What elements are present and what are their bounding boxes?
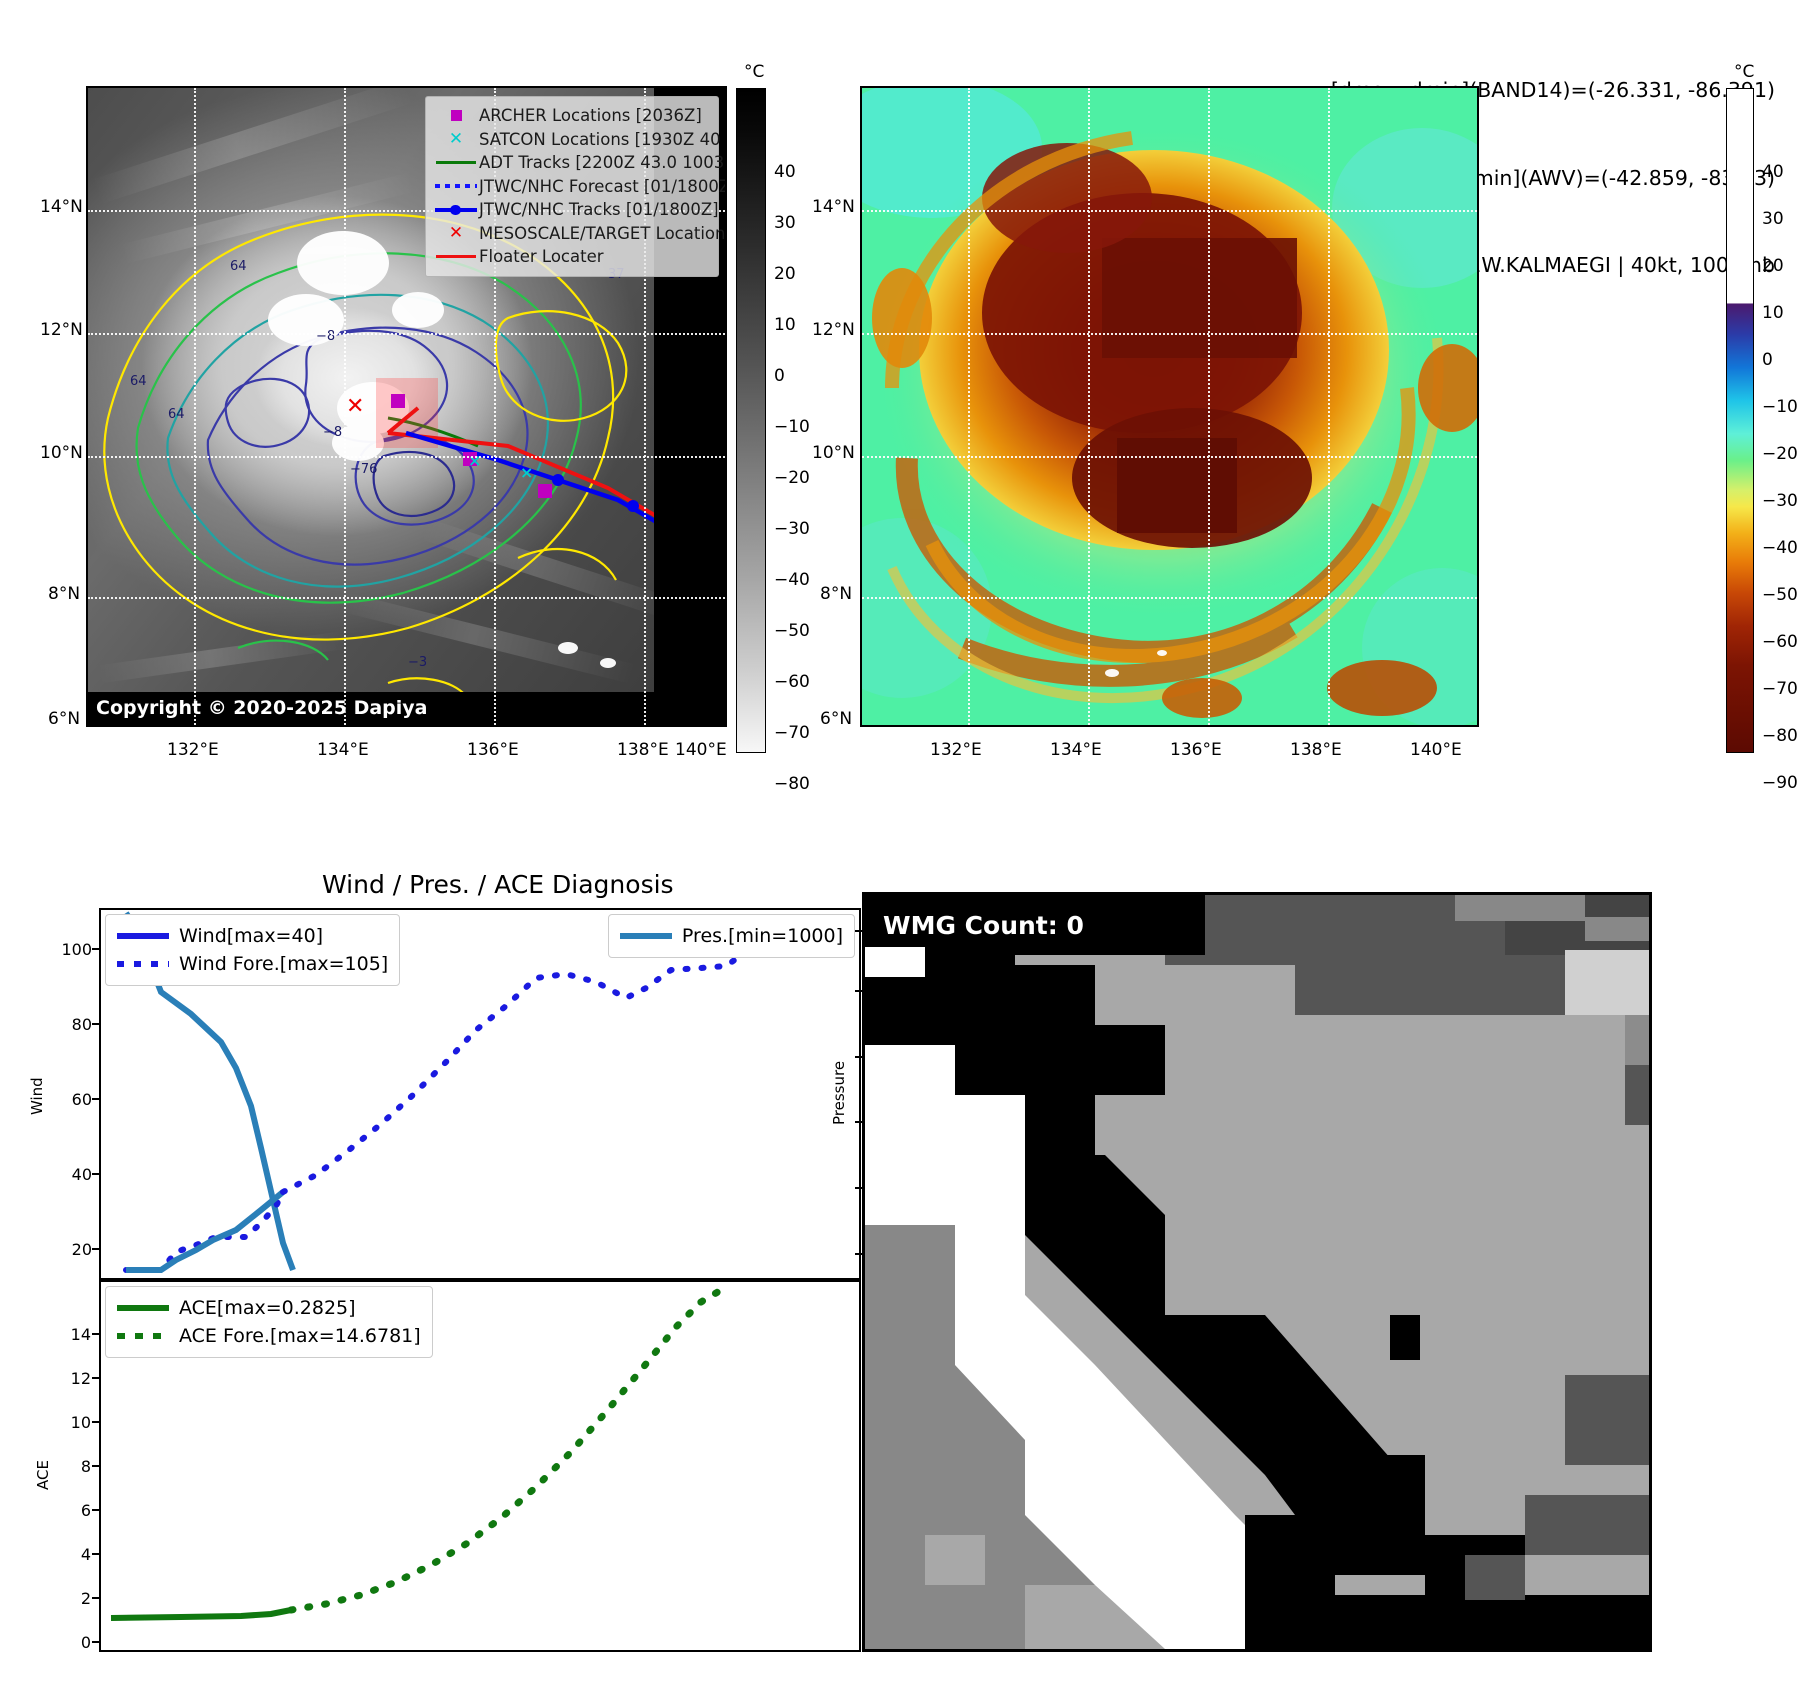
ace-ytick: 4 — [62, 1545, 91, 1564]
map2-xlabel-138E: 138°E — [1290, 740, 1342, 760]
legend-item-satcon[interactable]: ✕ SATCON Locations [1930Z 40 1001] — [433, 128, 710, 152]
diagnosis-subtitle: Wind / Pres. / ACE Diagnosis — [322, 870, 674, 899]
ace-ytick: 12 — [55, 1369, 91, 1388]
gridline-lon-132 — [194, 88, 196, 725]
blue-solid-line-icon — [117, 933, 179, 939]
wind-ytick: 60 — [50, 1090, 92, 1109]
cb-tick: 20 — [774, 264, 796, 284]
gridline-lat-12 — [862, 333, 1477, 335]
legend-item-jtwc-forecast[interactable]: JTWC/NHC Forecast [01/1800Z] — [433, 175, 710, 199]
wind-tickmark — [92, 1098, 99, 1100]
gridline-lon-138 — [1328, 88, 1330, 725]
cb-tick: 20 — [1762, 256, 1784, 276]
map2-ylabel-14N: 14°N — [812, 197, 855, 217]
green-solid-line-icon — [433, 161, 479, 164]
legend-label: Wind[max=40] — [179, 925, 323, 947]
ace-tickmark — [92, 1553, 99, 1555]
legend-label: ADT Tracks [2200Z 43.0 1003.3] — [479, 153, 725, 172]
ace-tickmark — [92, 1597, 99, 1599]
wind-ytick: 40 — [50, 1165, 92, 1184]
colorbar-gradient-gray — [736, 88, 766, 753]
legend-label: ACE[max=0.2825] — [179, 1297, 356, 1319]
legend-label: JTWC/NHC Tracks [01/1800Z] — [479, 200, 719, 219]
ace-axis-label: ACE — [34, 1460, 52, 1490]
cb-tick: 30 — [1762, 209, 1784, 229]
svg-text:64: 64 — [130, 374, 147, 389]
enhanced-ir-field — [862, 88, 1477, 725]
gridline-lat-8 — [88, 597, 725, 599]
svg-text:−3: −3 — [408, 655, 427, 670]
map1-ylabel-14N: 14°N — [40, 197, 83, 217]
pressure-axis-label: Pressure — [830, 1061, 848, 1125]
legend-label: ARCHER Locations [2036Z] — [479, 106, 702, 125]
cb-tick: 40 — [1762, 162, 1784, 182]
gridline-lon-134 — [1088, 88, 1090, 725]
gridline-lat-10 — [88, 456, 725, 458]
cb-tick: −50 — [774, 621, 810, 641]
wind-tickmark — [92, 1248, 99, 1250]
map1-xlabel-134E: 134°E — [317, 740, 369, 760]
map2-xlabel-136E: 136°E — [1170, 740, 1222, 760]
pressure-tickmark — [855, 1253, 862, 1255]
pressure-legend[interactable]: Pres.[min=1000] — [608, 914, 855, 958]
svg-text:×: × — [520, 463, 533, 482]
cb-tick: −20 — [774, 468, 810, 488]
legend-item-archer[interactable]: ARCHER Locations [2036Z] — [433, 104, 710, 128]
wind-tickmark — [92, 1173, 99, 1175]
pressure-tickmark — [855, 930, 862, 932]
blue-dotted-line-icon — [117, 961, 179, 967]
blue-dotted-line-icon — [433, 184, 479, 188]
blue-line-dot-icon — [433, 208, 479, 212]
legend-label: MESOSCALE/TARGET Location — [479, 224, 725, 243]
wmg-count-label: WMG Count: 0 — [883, 911, 1084, 940]
legend-label: Floater Locater — [479, 247, 604, 266]
gridline-lat-8 — [862, 597, 1477, 599]
ace-tickmark — [92, 1377, 99, 1379]
cb-tick: 40 — [774, 162, 796, 182]
series-wind-forecast — [126, 1192, 283, 1270]
ir-map-image[interactable]: × × ✕ 64 64 64 −76 −8 −8 37 −3 — [88, 88, 725, 725]
ir-map-panel[interactable]: × × ✕ 64 64 64 −76 −8 −8 37 −3 — [86, 86, 727, 727]
red-solid-line-icon — [433, 255, 479, 258]
legend-item-ace-forecast[interactable]: ACE Fore.[max=14.6781] — [117, 1322, 421, 1350]
map1-xlabel-136E: 136°E — [467, 740, 519, 760]
cb-tick: −70 — [1762, 679, 1797, 699]
map2-xlabel-140E: 140°E — [1410, 740, 1462, 760]
cb-tick: −40 — [1762, 538, 1797, 558]
legend-label: SATCON Locations [1930Z 40 1001] — [479, 130, 725, 149]
legend-item-floater[interactable]: Floater Locater — [433, 245, 710, 269]
legend-item-wind-forecast[interactable]: Wind Fore.[max=105] — [117, 950, 388, 978]
legend-label: Wind Fore.[max=105] — [179, 953, 388, 975]
pressure-tickmark — [855, 990, 862, 992]
ace-legend[interactable]: ACE[max=0.2825] ACE Fore.[max=14.6781] — [105, 1286, 433, 1358]
map2-xlabel-132E: 132°E — [930, 740, 982, 760]
svg-text:64: 64 — [230, 259, 247, 274]
gridline-lat-12 — [88, 333, 725, 335]
map1-ylabel-12N: 12°N — [40, 320, 83, 340]
ace-ytick: 10 — [55, 1413, 91, 1432]
wmg-panel[interactable]: WMG Count: 0 — [862, 892, 1652, 1652]
cb-tick: 0 — [1762, 350, 1773, 370]
red-x-marker-icon: ✕ — [433, 225, 479, 242]
gridline-lon-134 — [344, 88, 346, 725]
map1-xlabel-138E: 138°E — [617, 740, 669, 760]
enhanced-ir-image[interactable] — [862, 88, 1477, 725]
series-ace — [111, 1610, 291, 1618]
ace-tickmark — [92, 1465, 99, 1467]
legend-item-jtwc-tracks[interactable]: JTWC/NHC Tracks [01/1800Z] — [433, 198, 710, 222]
wind-ytick: 20 — [50, 1240, 92, 1259]
gridline-lon-132 — [968, 88, 970, 725]
cb-tick: −90 — [1762, 773, 1797, 793]
cb-tick: −30 — [1762, 491, 1797, 511]
map1-ylabel-10N: 10°N — [40, 443, 83, 463]
gridline-lat-10 — [862, 456, 1477, 458]
cb-tick: 0 — [774, 366, 785, 386]
colorbar-unit: °C — [744, 62, 764, 82]
wind-tickmark — [92, 1023, 99, 1025]
ace-ytick: 6 — [62, 1501, 91, 1520]
wmg-mask-image — [865, 895, 1649, 1649]
pressure-tickmark — [855, 1056, 862, 1058]
ace-tickmark — [92, 1509, 99, 1511]
ace-chart[interactable]: ACE[max=0.2825] ACE Fore.[max=14.6781] — [99, 1280, 861, 1652]
cb-tick: −60 — [1762, 632, 1797, 652]
svg-text:−8: −8 — [316, 329, 335, 344]
legend-item-ace[interactable]: ACE[max=0.2825] — [117, 1294, 421, 1322]
svg-text:−8: −8 — [323, 425, 342, 440]
legend-item-wind[interactable]: Wind[max=40] — [117, 922, 388, 950]
ace-tickmark — [92, 1421, 99, 1423]
map1-xlabel-132E: 132°E — [167, 740, 219, 760]
map1-ylabel-8N: 8°N — [48, 584, 80, 604]
green-dotted-line-icon — [117, 1333, 179, 1339]
ace-ytick: 0 — [62, 1633, 91, 1652]
green-solid-line-icon — [117, 1305, 179, 1311]
pressure-tickmark — [855, 1121, 862, 1123]
map2-ylabel-8N: 8°N — [820, 584, 852, 604]
cb-tick: 10 — [1762, 303, 1784, 323]
colorbar-gradient-enhanced — [1726, 88, 1754, 753]
cb-tick: −60 — [774, 672, 810, 692]
cb-tick: −20 — [1762, 444, 1797, 464]
cb-tick: −80 — [774, 774, 810, 794]
wind-ytick: 100 — [50, 940, 92, 959]
legend-item-mesoscale[interactable]: ✕ MESOSCALE/TARGET Location — [433, 222, 710, 246]
legend-item-adt[interactable]: ADT Tracks [2200Z 43.0 1003.3] — [433, 151, 710, 175]
mesoscale-target-marker: ✕ — [346, 394, 364, 419]
gridline-lon-136 — [1208, 88, 1210, 725]
magenta-square-marker-icon — [433, 110, 479, 121]
ace-ytick: 14 — [55, 1325, 91, 1344]
cb-tick: 10 — [774, 315, 796, 335]
copyright-notice: Copyright © 2020-2025 Dapiya — [96, 697, 427, 719]
svg-text:−76: −76 — [350, 462, 377, 477]
cb-tick: −10 — [774, 417, 810, 437]
wind-legend[interactable]: Wind[max=40] Wind Fore.[max=105] — [105, 914, 400, 986]
ace-ytick: 8 — [62, 1457, 91, 1476]
map1-ylabel-6N: 6°N — [48, 709, 80, 729]
legend-label: Pres.[min=1000] — [682, 925, 843, 947]
gridline-lat-14 — [862, 210, 1477, 212]
cb-tick: −50 — [1762, 585, 1797, 605]
legend-label: ACE Fore.[max=14.6781] — [179, 1325, 421, 1347]
cyan-x-marker-icon: ✕ — [433, 131, 479, 148]
svg-text:×: × — [468, 451, 481, 470]
enhanced-ir-panel[interactable] — [860, 86, 1479, 727]
cb-tick: −40 — [774, 570, 810, 590]
cb-tick: 30 — [774, 213, 796, 233]
ace-tickmark — [92, 1641, 99, 1643]
map1-xlabel-140E: 140°E — [675, 740, 727, 760]
cb-tick: −80 — [1762, 726, 1797, 746]
map2-ylabel-12N: 12°N — [812, 320, 855, 340]
svg-text:✕: ✕ — [346, 394, 364, 419]
steelblue-solid-line-icon — [620, 933, 682, 939]
colorbar-unit: °C — [1734, 62, 1754, 82]
svg-text:64: 64 — [168, 407, 185, 422]
ace-ytick: 2 — [62, 1589, 91, 1608]
cb-tick: −10 — [1762, 397, 1797, 417]
pressure-tickmark — [855, 1187, 862, 1189]
wind-axis-label: Wind — [28, 1077, 46, 1115]
ace-tickmark — [92, 1333, 99, 1335]
map2-ylabel-6N: 6°N — [820, 709, 852, 729]
series-pressure — [126, 1192, 283, 1270]
wind-pressure-chart[interactable]: Wind[max=40] Wind Fore.[max=105] Pres.[m… — [99, 908, 861, 1280]
wind-tickmark — [92, 948, 99, 950]
map2-ylabel-10N: 10°N — [812, 443, 855, 463]
legend-label: JTWC/NHC Forecast [01/1800Z] — [479, 177, 725, 196]
map2-xlabel-134E: 134°E — [1050, 740, 1102, 760]
cb-tick: −30 — [774, 519, 810, 539]
legend-item-pressure[interactable]: Pres.[min=1000] — [620, 922, 843, 950]
map-legend[interactable]: ARCHER Locations [2036Z] ✕ SATCON Locati… — [425, 96, 719, 277]
wind-ytick: 80 — [50, 1015, 92, 1034]
cb-tick: −70 — [774, 723, 810, 743]
